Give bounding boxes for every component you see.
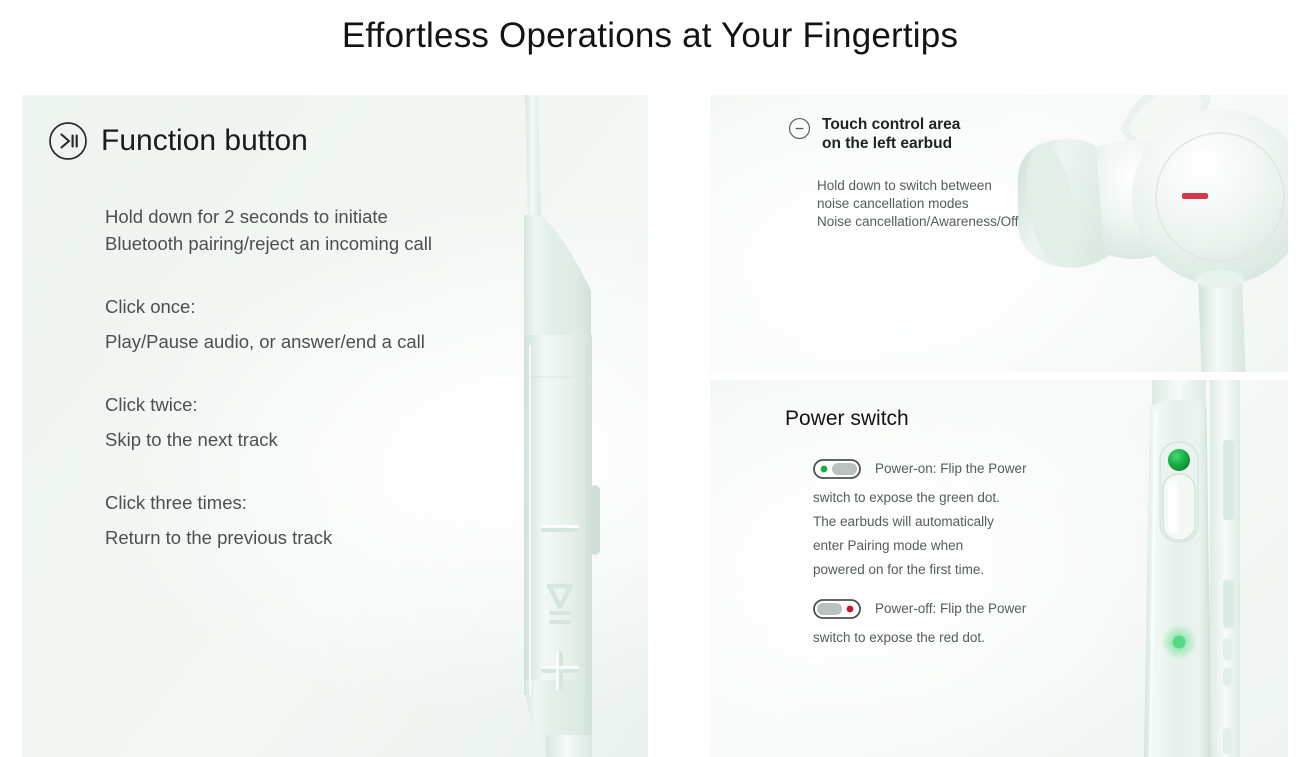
instruction-line: Bluetooth pairing/reject an incoming cal… xyxy=(105,230,525,257)
touch-circle-icon xyxy=(788,117,811,140)
power-on-line: powered on for the first time. xyxy=(813,558,1143,582)
touch-instruction-line: Hold down to switch between xyxy=(817,177,1018,195)
instruction-hold-down: Hold down for 2 seconds to initiate Blue… xyxy=(105,203,525,257)
power-off-detail: switch to expose the red dot. xyxy=(813,626,1143,650)
power-on-detail: switch to expose the green dot. The earb… xyxy=(813,486,1143,582)
touch-control-heading: Touch control area on the left earbud xyxy=(788,115,960,153)
touch-heading-line: Touch control area xyxy=(822,115,960,134)
instruction-label: Click twice: xyxy=(105,391,525,418)
power-on-first-line: Power-on: Flip the Power xyxy=(875,460,1027,478)
instruction-click-once: Click once: Play/Pause audio, or answer/… xyxy=(105,293,525,355)
toggle-off-red-icon[interactable] xyxy=(813,599,861,619)
power-on-line: enter Pairing mode when xyxy=(813,534,1143,558)
left-earbud-illustration xyxy=(1010,95,1288,372)
touch-heading-line: on the left earbud xyxy=(822,134,960,153)
power-off-instructions: Power-off: Flip the Power switch to expo… xyxy=(813,599,1143,650)
power-switch-title: Power switch xyxy=(785,407,909,431)
function-button-panel: Function button Hold down for 2 seconds … xyxy=(22,95,648,757)
instruction-click-twice: Click twice: Skip to the next track xyxy=(105,391,525,453)
touch-instruction-line: noise cancellation modes xyxy=(817,195,1018,213)
led-indicator xyxy=(1173,636,1186,649)
power-off-row: Power-off: Flip the Power xyxy=(813,599,1143,619)
power-off-first-line: Power-off: Flip the Power xyxy=(875,600,1026,618)
volume-down-glyph xyxy=(541,525,579,532)
function-button-title: Function button xyxy=(101,126,308,156)
instruction-line: Hold down for 2 seconds to initiate xyxy=(105,203,525,230)
toggle-on-green-icon[interactable] xyxy=(813,459,861,479)
touch-control-instructions: Hold down to switch between noise cancel… xyxy=(817,177,1018,231)
instruction-label: Click once: xyxy=(105,293,525,320)
play-pause-circle-icon xyxy=(48,121,88,161)
touch-instruction-line: Noise cancellation/Awareness/Off xyxy=(817,213,1018,231)
power-switch-panel: Power switch Power-on: Flip the Power sw… xyxy=(710,380,1288,757)
function-button-instructions: Hold down for 2 seconds to initiate Blue… xyxy=(105,203,525,551)
power-on-line: The earbuds will automatically xyxy=(813,510,1143,534)
power-on-instructions: Power-on: Flip the Power switch to expos… xyxy=(813,459,1143,582)
function-button-heading: Function button xyxy=(48,121,308,161)
green-dot-indicator xyxy=(1168,449,1190,471)
instruction-line: Play/Pause audio, or answer/end a call xyxy=(105,328,525,355)
touch-control-panel: Touch control area on the left earbud Ho… xyxy=(710,95,1288,372)
page-title: Effortless Operations at Your Fingertips xyxy=(0,16,1300,56)
instruction-label: Click three times: xyxy=(105,489,525,516)
instruction-click-three-times: Click three times: Return to the previou… xyxy=(105,489,525,551)
instruction-line: Return to the previous track xyxy=(105,524,525,551)
power-on-line: switch to expose the green dot. xyxy=(813,486,1143,510)
power-off-line: switch to expose the red dot. xyxy=(813,626,1143,650)
red-dash-marker xyxy=(1182,193,1208,199)
power-on-row: Power-on: Flip the Power xyxy=(813,459,1143,479)
instruction-line: Skip to the next track xyxy=(105,426,525,453)
